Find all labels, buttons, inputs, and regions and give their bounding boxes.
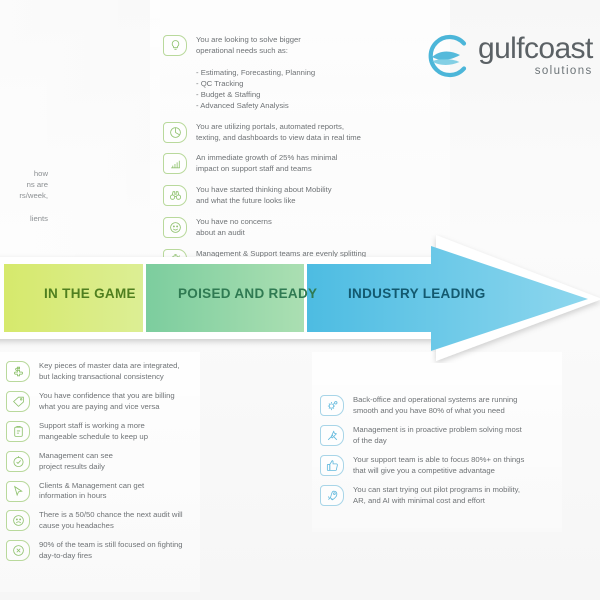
list-item: You have confidence that you are billing… — [6, 390, 206, 413]
list-item: You are looking to solve bigger operatio… — [163, 34, 393, 112]
list-item-text: Management is in proactive problem solvi… — [353, 424, 522, 447]
bottom-right-benefit-list: Back-office and operational systems are … — [320, 394, 550, 514]
list-item-text: You have started thinking about Mobility… — [196, 184, 332, 207]
logo-tagline: solutions — [478, 66, 593, 78]
list-item-text: There is a 50/50 chance the next audit w… — [39, 509, 183, 532]
list-item-text: Your support team is able to focus 80%+ … — [353, 454, 524, 477]
lightbulb-icon — [163, 35, 187, 56]
clipboard-icon — [6, 421, 30, 442]
wave-circle-icon — [424, 33, 470, 79]
list-item-text: Management can see project results daily — [39, 450, 113, 473]
list-item-text: You have confidence that you are billing… — [39, 390, 175, 413]
infographic-canvas: how ns are rs/week, lients gulfcoast sol… — [0, 0, 600, 600]
list-item-text: You can start trying out pilot programs … — [353, 484, 520, 507]
arrow-label-industry-leading: INDUSTRY LEADING — [348, 286, 486, 301]
list-item: Clients & Management can get information… — [6, 480, 206, 503]
sad-face-icon — [6, 510, 30, 531]
list-item-text: You are looking to solve bigger operatio… — [196, 34, 315, 112]
logo-wordmark: gulfcoast — [478, 34, 593, 64]
cursor-arrow-icon — [6, 481, 30, 502]
list-item: You can start trying out pilot programs … — [320, 484, 550, 507]
list-item-text: An immediate growth of 25% has minimal i… — [196, 152, 337, 175]
list-item: 90% of the team is still focused on figh… — [6, 539, 206, 562]
arrow-label-poised-and-ready: POISED AND READY — [178, 286, 317, 301]
clipped-left-edge-text: how ns are rs/week, lients — [0, 168, 48, 224]
gears-icon — [320, 395, 344, 416]
binoculars-icon — [163, 185, 187, 206]
pie-chart-icon — [163, 122, 187, 143]
list-item: Your support team is able to focus 80%+ … — [320, 454, 550, 477]
arrow-label-in-the-game: IN THE GAME — [44, 286, 136, 301]
list-item: You have started thinking about Mobility… — [163, 184, 393, 207]
bar-chart-icon — [163, 153, 187, 174]
list-item-text: 90% of the team is still focused on figh… — [39, 539, 183, 562]
puzzle-piece-icon — [6, 361, 30, 382]
list-item: There is a 50/50 chance the next audit w… — [6, 509, 206, 532]
list-item: Support staff is working a more mangeabl… — [6, 420, 206, 443]
list-item: An immediate growth of 25% has minimal i… — [163, 152, 393, 175]
thumbs-up-icon — [320, 455, 344, 476]
list-item-text: You are utilizing portals, automated rep… — [196, 121, 361, 144]
price-tag-icon — [6, 391, 30, 412]
bottom-left-status-list: Key pieces of master data are integrated… — [6, 360, 206, 569]
list-item: Back-office and operational systems are … — [320, 394, 550, 417]
list-item-text: Back-office and operational systems are … — [353, 394, 517, 417]
rocket-icon — [320, 485, 344, 506]
list-item-text: Clients & Management can get information… — [39, 480, 144, 503]
list-item: Key pieces of master data are integrated… — [6, 360, 206, 383]
check-clock-icon — [6, 451, 30, 472]
x-circle-icon — [6, 540, 30, 561]
list-item: Management is in proactive problem solvi… — [320, 424, 550, 447]
list-item: You are utilizing portals, automated rep… — [163, 121, 393, 144]
company-logo: gulfcoast solutions — [424, 33, 593, 79]
list-item: Management can see project results daily — [6, 450, 206, 473]
tools-icon — [320, 425, 344, 446]
list-item-text: Key pieces of master data are integrated… — [39, 360, 180, 383]
list-item-text: Support staff is working a more mangeabl… — [39, 420, 148, 443]
